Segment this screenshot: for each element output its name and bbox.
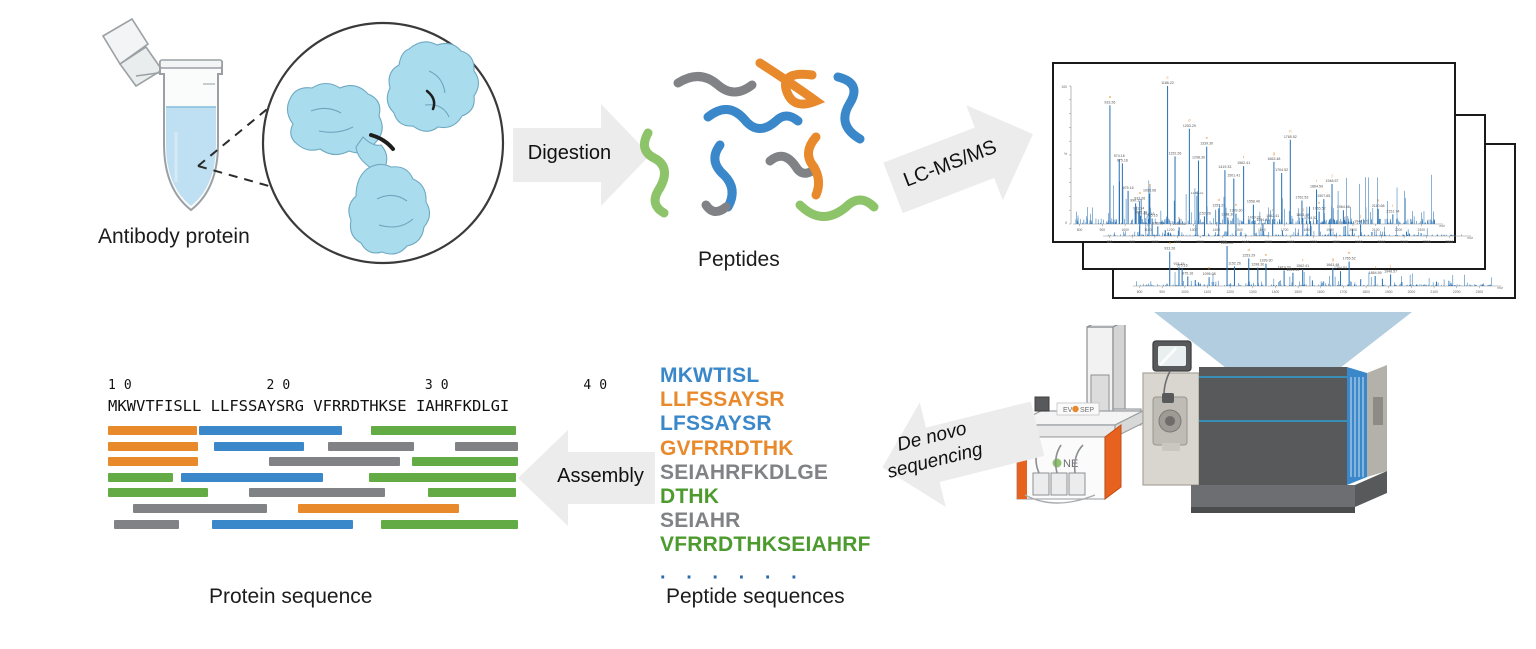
peptide-item: SEIAHR <box>660 509 910 533</box>
coverage-bar <box>369 473 516 482</box>
peptide-item: GVFRRDTHK <box>660 437 910 461</box>
arrow-assembly-label: Assembly <box>532 465 669 488</box>
coverage-bar <box>412 457 518 466</box>
svg-text:1800: 1800 <box>1362 290 1370 294</box>
mass-spectrometer-body-icon <box>1143 341 1387 513</box>
svg-text:800: 800 <box>1137 290 1143 294</box>
svg-text:SEP: SEP <box>1080 407 1094 414</box>
svg-text:1186.22: 1186.22 <box>1161 81 1174 85</box>
svg-text:1339.30: 1339.30 <box>1259 259 1272 263</box>
svg-text:975.16: 975.16 <box>1117 158 1128 162</box>
svg-text:1400: 1400 <box>1242 240 1250 244</box>
svg-text:1948.57: 1948.57 <box>1326 179 1339 183</box>
svg-text:2100: 2100 <box>1400 240 1408 244</box>
svg-text:2300: 2300 <box>1418 228 1426 232</box>
svg-text:900: 900 <box>1100 228 1106 232</box>
svg-text:1700: 1700 <box>1310 240 1318 244</box>
svg-text:800: 800 <box>1077 228 1083 232</box>
svg-text:975.16: 975.16 <box>1177 263 1188 267</box>
svg-text:1400: 1400 <box>1212 228 1220 232</box>
svg-text:i: i <box>1375 265 1376 270</box>
arrow-digestion-label: Digestion <box>501 142 638 165</box>
svg-text:1400: 1400 <box>1272 290 1280 294</box>
svg-text:b: b <box>1148 182 1151 187</box>
svg-text:f: f <box>1302 258 1304 263</box>
coverage-bar <box>214 442 304 451</box>
svg-text:1704.52: 1704.52 <box>1334 266 1347 270</box>
svg-text:1298.30: 1298.30 <box>1251 263 1264 267</box>
svg-text:EV: EV <box>1063 407 1073 414</box>
svg-text:m/z: m/z <box>1440 224 1446 228</box>
svg-text:1762.53: 1762.53 <box>1295 196 1308 200</box>
svg-text:1100: 1100 <box>1204 290 1211 294</box>
svg-text:1600: 1600 <box>1317 290 1325 294</box>
arrow-assembly: Assembly <box>518 430 655 526</box>
svg-text:1964.66: 1964.66 <box>1337 205 1350 209</box>
svg-text:1562.41: 1562.41 <box>1296 264 1309 268</box>
coverage-bar <box>108 426 197 435</box>
svg-text:1501.41: 1501.41 <box>1227 173 1240 177</box>
svg-text:1000: 1000 <box>1181 290 1189 294</box>
caption-peptides: Peptides <box>698 248 780 272</box>
svg-text:1500: 1500 <box>1264 240 1272 244</box>
svg-text:1663.48: 1663.48 <box>1267 157 1280 161</box>
svg-text:1765.52: 1765.52 <box>1343 257 1356 261</box>
peptide-item: MKWTISL <box>660 364 910 388</box>
svg-text:2200: 2200 <box>1423 240 1431 244</box>
svg-text:975.16: 975.16 <box>1123 186 1134 190</box>
svg-text:1300: 1300 <box>1249 290 1257 294</box>
svg-text:900: 900 <box>1129 240 1135 244</box>
peptide-item: LLFSSAYSR <box>660 388 910 412</box>
svg-text:2110.68: 2110.68 <box>1372 204 1385 208</box>
coverage-bar <box>328 442 414 451</box>
svg-text:h: h <box>1348 250 1350 255</box>
svg-text:1000: 1000 <box>1121 228 1129 232</box>
coverage-bar <box>455 442 518 451</box>
svg-text:1095.08: 1095.08 <box>1143 189 1156 193</box>
svg-text:933.26: 933.26 <box>1104 100 1115 104</box>
svg-text:f: f <box>1243 155 1245 160</box>
svg-text:1907.65: 1907.65 <box>1317 194 1330 198</box>
coverage-bar <box>108 473 173 482</box>
svg-text:1339.30: 1339.30 <box>1200 142 1213 146</box>
svg-text:100: 100 <box>1061 85 1067 89</box>
svg-text:%: % <box>1064 152 1067 156</box>
svg-text:1900: 1900 <box>1355 240 1363 244</box>
svg-text:1900: 1900 <box>1385 290 1393 294</box>
mass-spectrometer-illustration: EV SEP NE <box>995 325 1400 535</box>
svg-text:1253.29: 1253.29 <box>1242 253 1255 257</box>
svg-text:c: c <box>1167 75 1169 80</box>
svg-text:1200: 1200 <box>1226 290 1234 294</box>
svg-text:1700: 1700 <box>1340 290 1348 294</box>
svg-text:j: j <box>1331 172 1333 177</box>
spectrum-trace-1: 8009001000110012001300140015001600170018… <box>1057 66 1449 236</box>
tube-cap-icon <box>103 19 165 86</box>
svg-text:1419.33: 1419.33 <box>1218 165 1231 169</box>
coverage-bar <box>428 488 516 497</box>
svg-text:m/z: m/z <box>1498 286 1504 290</box>
svg-text:2100: 2100 <box>1372 228 1380 232</box>
svg-text:b: b <box>1208 266 1211 271</box>
svg-text:1800: 1800 <box>1332 240 1340 244</box>
svg-text:1948.57: 1948.57 <box>1384 269 1397 273</box>
svg-text:1152.26: 1152.26 <box>1169 151 1182 155</box>
coverage-bar <box>181 473 323 482</box>
svg-text:1501.41: 1501.41 <box>1286 268 1299 272</box>
svg-text:1152.26: 1152.26 <box>1228 261 1241 265</box>
svg-text:0: 0 <box>1065 221 1067 225</box>
svg-text:g: g <box>1332 257 1334 262</box>
svg-text:2200: 2200 <box>1395 228 1403 232</box>
svg-text:2300: 2300 <box>1446 240 1454 244</box>
svg-text:1100: 1100 <box>1174 240 1181 244</box>
coverage-bar <box>108 442 198 451</box>
peptide-item: VFRRDTHKSEIAHRF <box>660 533 910 557</box>
svg-text:990.12: 990.12 <box>1130 198 1141 202</box>
svg-text:1253.29: 1253.29 <box>1183 124 1196 128</box>
svg-text:1704.52: 1704.52 <box>1275 168 1288 172</box>
svg-text:1800: 1800 <box>1304 228 1312 232</box>
svg-text:e: e <box>1265 252 1268 257</box>
svg-text:1562.41: 1562.41 <box>1237 161 1250 165</box>
svg-text:2151.74: 2151.74 <box>1386 209 1399 213</box>
sequence-residues: MKWVTFISLL LLFSSAYSRG VFRRDTHKSE IAHRFKD… <box>108 397 509 415</box>
caption-protein-sequence: Protein sequence <box>209 585 372 609</box>
caption-antibody: Antibody protein <box>98 225 250 249</box>
sequence-ruler: 10 20 30 40 <box>108 378 615 393</box>
coverage-bar <box>108 457 198 466</box>
svg-text:k: k <box>1377 197 1379 202</box>
svg-text:1864.59: 1864.59 <box>1369 271 1382 275</box>
peptide-item: DTHK <box>660 485 910 509</box>
coverage-bar <box>371 426 516 435</box>
svg-text:2100: 2100 <box>1430 290 1438 294</box>
coverage-bar <box>249 488 386 497</box>
coverage-bar <box>269 457 400 466</box>
caption-peptide-sequences: Peptide sequences <box>666 585 845 609</box>
svg-text:900: 900 <box>1159 290 1165 294</box>
peptide-item: LFSSAYSR <box>660 412 910 436</box>
protein-sequence-panel: 10 20 30 40 MKWVTFISLL LLFSSAYSRG VFRRDT… <box>108 378 516 556</box>
svg-text:2000: 2000 <box>1349 228 1357 232</box>
svg-text:m/z: m/z <box>1468 236 1474 240</box>
svg-text:975.16: 975.16 <box>1182 271 1193 275</box>
antibody-magnified-circle <box>259 19 507 267</box>
svg-text:1558.40: 1558.40 <box>1247 200 1260 204</box>
svg-text:1200: 1200 <box>1196 240 1204 244</box>
peptide-item: SEIAHRFKDLGE <box>660 461 910 485</box>
svg-text:2000: 2000 <box>1378 240 1386 244</box>
svg-text:1095.08: 1095.08 <box>1203 272 1216 276</box>
svg-text:1765.52: 1765.52 <box>1284 135 1297 139</box>
svg-text:g: g <box>1273 150 1275 155</box>
coverage-bar <box>212 520 353 529</box>
coverage-bar <box>199 426 341 435</box>
mass-spectra-stack: 8009001000110012001300140015001600170018… <box>1025 62 1525 312</box>
svg-text:800: 800 <box>1107 240 1113 244</box>
svg-text:2000: 2000 <box>1408 290 1416 294</box>
coverage-bars <box>108 426 516 536</box>
svg-text:1600: 1600 <box>1258 228 1266 232</box>
coverage-bar <box>381 520 518 529</box>
peptide-sequence-list: MKWTISL LLFSSAYSR LFSSAYSR GVFRRDTHK SEI… <box>660 364 910 564</box>
coverage-bar <box>298 504 459 513</box>
svg-text:1300: 1300 <box>1219 240 1227 244</box>
svg-text:1300: 1300 <box>1190 228 1198 232</box>
spectrum-trace-3: 8009001000110012001300140015001600170018… <box>1117 242 1507 298</box>
coverage-bar <box>133 504 267 513</box>
svg-text:1298.30: 1298.30 <box>1192 156 1205 160</box>
svg-text:1900: 1900 <box>1326 228 1334 232</box>
svg-text:1500: 1500 <box>1294 290 1302 294</box>
coverage-bar <box>114 520 178 529</box>
svg-text:1000: 1000 <box>1151 240 1159 244</box>
svg-text:h: h <box>1289 128 1291 133</box>
svg-text:l: l <box>1392 203 1393 208</box>
svg-text:2300: 2300 <box>1476 290 1484 294</box>
svg-text:1700: 1700 <box>1281 228 1289 232</box>
svg-text:2200: 2200 <box>1453 290 1461 294</box>
svg-text:a: a <box>1109 94 1112 99</box>
svg-text:1500: 1500 <box>1235 228 1243 232</box>
svg-text:1035.10: 1035.10 <box>1134 211 1147 215</box>
coverage-bar <box>108 488 208 497</box>
svg-text:1864.59: 1864.59 <box>1310 185 1323 189</box>
svg-text:1100: 1100 <box>1144 228 1151 232</box>
svg-text:1200: 1200 <box>1167 228 1175 232</box>
svg-text:j: j <box>1389 263 1391 268</box>
svg-text:i: i <box>1316 178 1317 183</box>
svg-text:e: e <box>1206 135 1209 140</box>
svg-text:1600: 1600 <box>1287 240 1295 244</box>
svg-text:d: d <box>1188 117 1190 122</box>
